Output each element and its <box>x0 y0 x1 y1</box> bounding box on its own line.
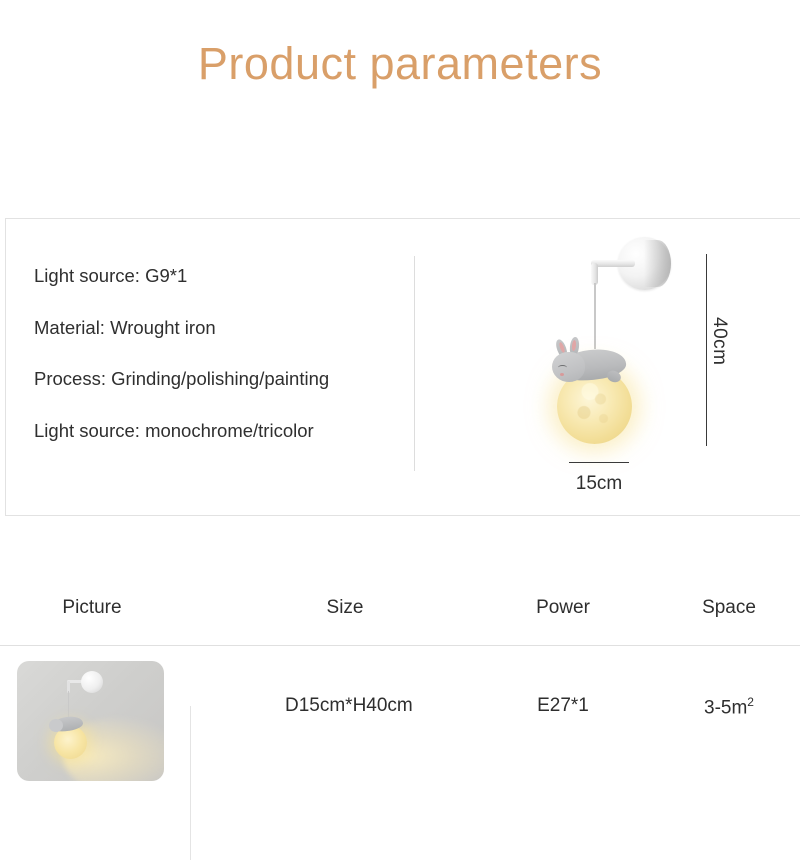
bunny-head <box>552 352 585 382</box>
width-dimension-label: 15cm <box>549 473 649 495</box>
page-title: Product parameters <box>0 38 800 90</box>
width-dimension-line <box>569 462 629 463</box>
table-header-row: Picture Size Power Space <box>0 585 800 645</box>
table-header-picture: Picture <box>32 597 152 619</box>
table-cell-space-unit: m <box>731 697 747 718</box>
spec-list: Light source: G9*1 Material: Wrought iro… <box>34 267 404 473</box>
product-illustration: 40cm 15cm <box>436 219 800 515</box>
table-cell-size: D15cm*H40cm <box>285 695 405 717</box>
table-cell-power: E27*1 <box>503 695 623 717</box>
spec-line-light-color: Light source: monochrome/tricolor <box>34 422 404 441</box>
height-dimension-label: 40cm <box>708 317 730 365</box>
table-header-power: Power <box>503 597 623 619</box>
table-cell-space-exponent: 2 <box>747 695 754 709</box>
bunny-closed-eye <box>558 365 567 370</box>
bunny-nose <box>560 373 564 376</box>
hanging-cord <box>594 283 596 349</box>
table-row: D15cm*H40cm E27*1 3-5m2 <box>0 645 800 800</box>
table-header-size: Size <box>285 597 405 619</box>
table-cell-space: 3-5m2 <box>669 695 789 719</box>
spec-line-process: Process: Grinding/polishing/painting <box>34 370 404 389</box>
spec-line-material: Material: Wrought iron <box>34 319 404 338</box>
support-arm-vertical <box>591 263 598 285</box>
thumbnail-wall-plate <box>81 671 103 693</box>
comparison-table: Picture Size Power Space D15cm*H40cm E27… <box>0 585 800 800</box>
table-cell-space-value: 3-5 <box>704 697 731 718</box>
spec-line-light-source: Light source: G9*1 <box>34 267 404 286</box>
table-cell-divider <box>190 706 191 860</box>
wall-mount-plate-shading <box>644 240 671 287</box>
table-header-space: Space <box>669 597 789 619</box>
thumbnail-bunny-head <box>49 719 63 732</box>
spec-panel: Light source: G9*1 Material: Wrought iro… <box>5 218 800 516</box>
panel-vertical-divider <box>414 256 415 471</box>
product-thumbnail <box>17 661 164 781</box>
